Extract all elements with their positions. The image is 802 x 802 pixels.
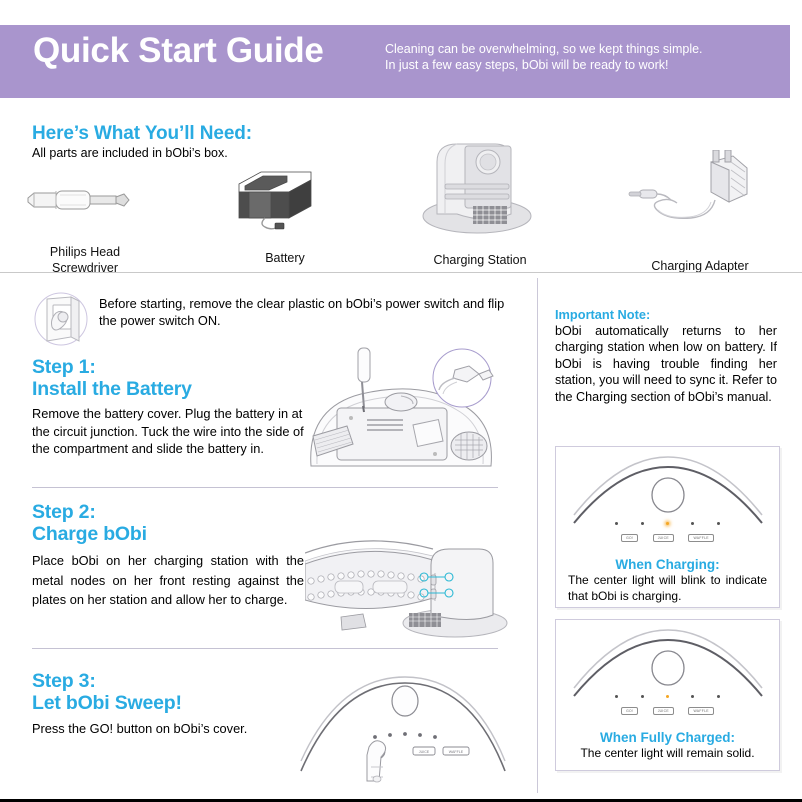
needs-subheading: All parts are included in bObi’s box.	[32, 146, 228, 160]
step-divider-2	[32, 648, 498, 649]
steps-column: Before starting, remove the clear plasti…	[0, 273, 538, 799]
led-1	[615, 695, 618, 698]
step-3-title: Step 3: Let bObi Sweep!	[32, 670, 182, 714]
screwdriver-icon	[20, 172, 150, 230]
panel-1-body: The center light will blink to indicate …	[556, 572, 779, 614]
led-5	[717, 522, 720, 525]
step-2-title: Step 2: Charge bObi	[32, 501, 147, 545]
header-subtitle: Cleaning can be overwhelming, so we kept…	[385, 42, 785, 73]
robot-underside-battery-illustration	[305, 346, 510, 471]
part-charging-station: Charging Station	[405, 132, 555, 268]
needs-heading: Here’s What You’ll Need:	[32, 123, 252, 145]
panel-when-charging: GO! JUICE WAFFLE When Charging: The cent…	[555, 446, 780, 608]
led-3-center	[666, 522, 669, 525]
power-switch-icon	[33, 291, 89, 347]
header-subtitle-line1: Cleaning can be overwhelming, so we kept…	[385, 42, 785, 58]
led-2	[641, 695, 644, 698]
led-3-center	[666, 695, 669, 698]
part-caption: Charging Station	[405, 252, 555, 268]
quick-start-guide-page: Quick Start Guide Cleaning can be overwh…	[0, 0, 802, 802]
page-title: Quick Start Guide	[33, 31, 324, 71]
header-subtitle-line2: In just a few easy steps, bObi will be r…	[385, 58, 785, 74]
waffle-button[interactable]: WAFFLE	[688, 707, 713, 715]
step-divider-1	[32, 487, 498, 488]
panel-1-heading: When Charging:	[556, 557, 779, 572]
svg-text:WAFFLE: WAFFLE	[449, 750, 464, 754]
step-3-body: Press the GO! button on bObi’s cover.	[32, 720, 332, 738]
go-button[interactable]: GO!	[621, 707, 638, 715]
important-note-body: bObi automatically returns to her chargi…	[555, 323, 777, 405]
cover-buttons: GO! JUICE WAFFLE	[556, 702, 779, 720]
battery-icon	[225, 162, 345, 230]
juice-button[interactable]: JUICE	[653, 707, 674, 715]
part-charging-adapter: Charging Adapter	[625, 150, 775, 274]
prenote-line1: Before starting, remove the clear plasti…	[99, 296, 459, 311]
sidebar-column: Important Note: bObi automatically retur…	[538, 273, 802, 799]
page-header: Quick Start Guide Cleaning can be overwh…	[0, 25, 790, 98]
led-5	[717, 695, 720, 698]
step-2-body: Place bObi on her charging station with …	[32, 551, 304, 610]
part-screwdriver: Philips Head Screwdriver	[20, 172, 150, 276]
svg-text:JUICE: JUICE	[419, 750, 430, 754]
panel-when-fully-charged: GO! JUICE WAFFLE When Fully Charged: The…	[555, 619, 780, 771]
led-4	[691, 522, 694, 525]
cover-buttons: GO! JUICE WAFFLE	[556, 529, 779, 547]
robot-cover-leds-illustration: GO! JUICE WAFFLE	[556, 620, 779, 728]
part-caption: Battery	[225, 250, 345, 266]
go-button[interactable]: GO!	[621, 534, 638, 542]
robot-cover-go-button-illustration: JUICE WAFFLE	[295, 665, 510, 785]
part-battery: Battery	[225, 162, 345, 266]
led-1	[615, 522, 618, 525]
robot-cover-leds-illustration: GO! JUICE WAFFLE	[556, 447, 779, 555]
led-2	[641, 522, 644, 525]
charging-station-icon	[405, 132, 555, 237]
prenote-text: Before starting, remove the clear plasti…	[99, 295, 519, 329]
important-note-heading: Important Note:	[555, 307, 650, 322]
led-4	[691, 695, 694, 698]
robot-docking-illustration	[305, 531, 510, 643]
panel-2-body: The center light will remain solid.	[556, 745, 779, 772]
needs-section: Here’s What You’ll Need: All parts are i…	[0, 100, 802, 272]
waffle-button[interactable]: WAFFLE	[688, 534, 713, 542]
step-1-body: Remove the battery cover. Plug the batte…	[32, 405, 304, 458]
panel-2-heading: When Fully Charged:	[556, 730, 779, 745]
charging-adapter-icon	[625, 150, 775, 232]
step-1-title: Step 1: Install the Battery	[32, 356, 192, 400]
juice-button[interactable]: JUICE	[653, 534, 674, 542]
